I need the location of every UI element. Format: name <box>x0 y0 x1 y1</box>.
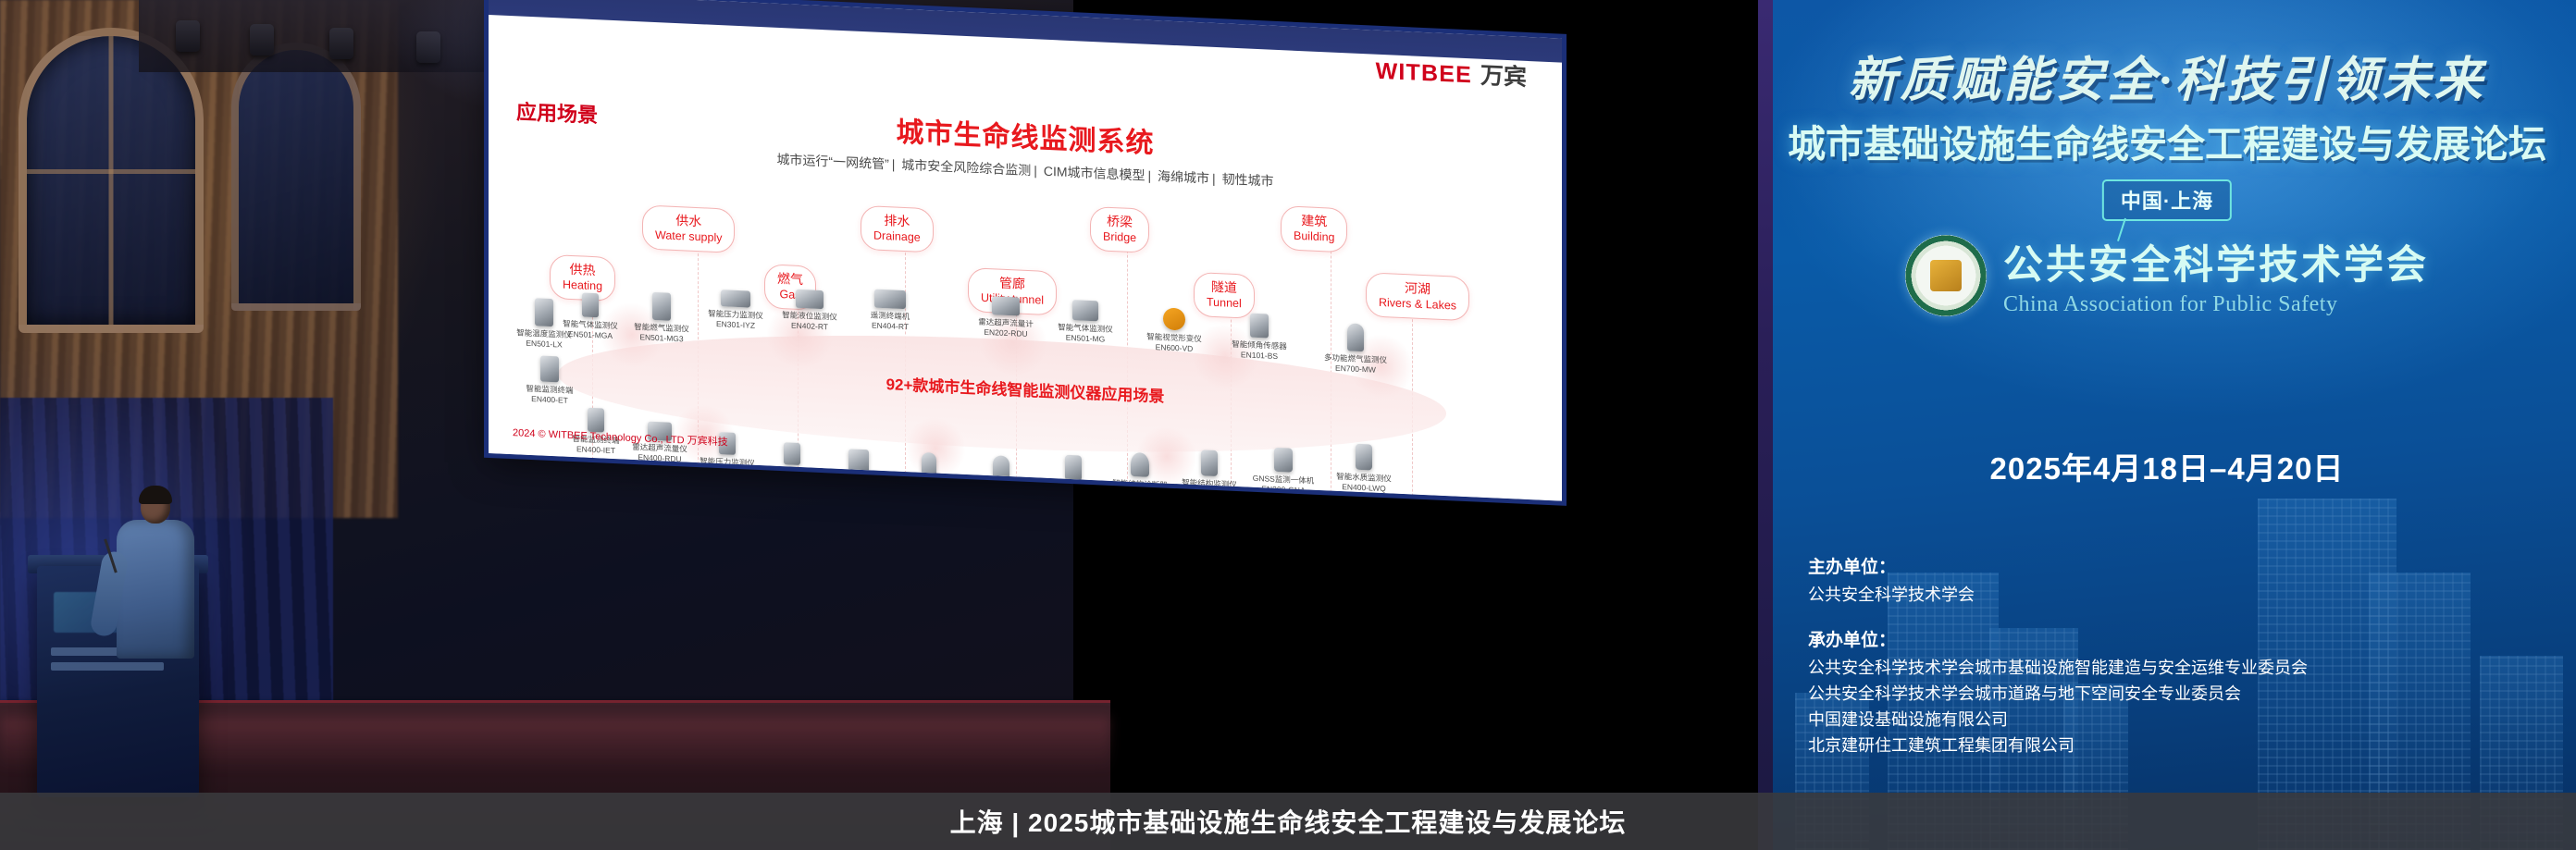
screenshot-root: WITBEE 万宾 应用场景 城市生命线监测系统 城市运行“一网统管”| 城市安… <box>0 0 2576 850</box>
scenario-label-en: Bridge <box>1103 229 1136 245</box>
device-item[interactable]: 智能压力监测仪 EN301-IYZ <box>703 289 768 331</box>
association-name-en: China Association for Public Safety <box>2003 292 2429 317</box>
organizer-item: 中国建设基础设施有限公司 <box>1808 708 2548 733</box>
speaker-body <box>117 520 194 659</box>
scenario-bubble-bridge[interactable]: 桥梁 Bridge <box>1090 206 1149 253</box>
scenario-label-cn: 建筑 <box>1294 213 1334 230</box>
subtitle-part: 城市运行“一网统管” <box>776 152 888 171</box>
association-name-cn: 公共安全科学技术学会 <box>2003 233 2429 290</box>
subtitle-part: 海绵城市 <box>1158 168 1209 185</box>
led-wall-wrapper: WITBEE 万宾 应用场景 城市生命线监测系统 城市运行“一网统管”| 城市安… <box>137 0 1562 472</box>
device-model: EN400-ET <box>516 393 583 406</box>
backdrop-organizations: 主办单位： 公共安全科学技术学会 承办单位： 公共安全科学技术学会城市基础设施智… <box>1808 553 2548 777</box>
backdrop-calligraphy-slogan: 新质赋能安全·科技引领未来 <box>1758 41 2576 110</box>
backdrop-main-title: 城市基础设施生命线安全工程建设与发展论坛 <box>1758 113 2576 168</box>
terminal-icon <box>796 289 824 309</box>
host-heading: 主办单位： <box>1808 553 2548 578</box>
device-name: 智能压力监测仪 <box>700 456 755 468</box>
terminal-icon <box>540 355 559 382</box>
organizer-item: 北京建研住工建筑工程集团有限公司 <box>1808 733 2548 758</box>
scenario-label-cn: 排水 <box>873 213 921 231</box>
multifunction-gas-icon <box>1347 323 1364 351</box>
subtitle-part: 城市安全风险综合监测 <box>901 157 1031 178</box>
device-item[interactable]: 雷达超声流量计 EN202-RDU <box>970 295 1042 340</box>
gas-monitor-icon <box>1072 300 1098 321</box>
scenario-label-en: Tunnel <box>1207 295 1242 311</box>
gnss-device-icon <box>1274 448 1293 473</box>
led-wall-screen: WITBEE 万宾 应用场景 城市生命线监测系统 城市运行“一网统管”| 城市安… <box>489 0 1562 501</box>
device-name: 智能结构监测仪 <box>1182 477 1237 489</box>
device-item[interactable]: 智能燃气监测仪 EN501-MG3 <box>627 291 696 345</box>
device-model: EN301-IYZ <box>703 318 768 331</box>
vibration-sensor-icon <box>1065 455 1082 482</box>
backdrop-location-chip: 中国·上海 <box>2102 179 2232 221</box>
device-item[interactable]: 多功能燃气监测仪 EN700-MW <box>1319 322 1392 376</box>
device-model: EN303-HS <box>1175 487 1244 500</box>
device-item[interactable]: 遥测终端机 EN404-RT <box>857 289 923 333</box>
witbee-logo-cn: 万宾 <box>1480 57 1527 92</box>
device-item[interactable]: 智能气体监测仪 EN501-MG <box>1051 299 1120 345</box>
scenario-bubble-water-supply[interactable]: 供水 Water supply <box>642 204 735 253</box>
flowmeter-icon <box>992 296 1020 315</box>
scenario-label-en: Building <box>1294 228 1334 245</box>
device-model: EN404-RT <box>857 320 923 333</box>
scenario-label-cn: 燃气 <box>777 271 803 289</box>
device-item[interactable]: 智能水质监测仪 EN400-LWQ <box>1329 442 1399 494</box>
scenario-label-cn: 桥梁 <box>1103 214 1136 231</box>
device-model: EN400-LWQ <box>1329 481 1399 494</box>
vision-sensor-icon <box>1163 307 1185 330</box>
device-item[interactable]: 智能监测终端 EN400-ET <box>516 354 583 406</box>
terminal-icon <box>848 449 869 474</box>
conference-backdrop: 新质赋能安全·科技引领未来 城市基础设施生命线安全工程建设与发展论坛 中国·上海… <box>1758 0 2576 850</box>
caption-text: 上海 | 2025城市基础设施生命线安全工程建设与发展论坛 <box>950 803 1627 840</box>
device-item[interactable]: 智能液位监测仪 EN402-RT <box>777 289 842 333</box>
device-item[interactable]: 智能结构监测仪 EN303-HS <box>1175 449 1244 500</box>
device-name: 遥测终端机 <box>871 310 910 321</box>
water-quality-icon <box>1356 444 1372 471</box>
device-item[interactable]: 智能结构诊断器 EN300-G <box>1107 451 1173 501</box>
subtitle-part: CIM城市信息模型 <box>1044 164 1146 183</box>
scenario-label-en: Water supply <box>655 228 722 246</box>
structure-monitor-icon <box>1201 450 1218 476</box>
scenario-bubble-rivers-lakes[interactable]: 河湖 Rivers & Lakes <box>1366 272 1469 321</box>
scenario-bubble-drainage[interactable]: 排水 Drainage <box>861 205 934 253</box>
backdrop-event-date: 2025年4月18日–4月20日 <box>1758 444 2576 488</box>
structure-diagnostic-icon <box>1131 452 1149 477</box>
scenario-label-en: Rivers & Lakes <box>1379 295 1456 313</box>
device-model: EN501-LX <box>511 338 577 351</box>
organizer-item: 公共安全科学技术学会城市道路与地下空间安全专业委员会 <box>1808 682 2548 707</box>
temperature-sensor-icon <box>784 442 800 465</box>
scenario-label-en: Drainage <box>873 228 921 245</box>
device-item[interactable]: 智能视觉形变仪 EN600-VD <box>1140 306 1208 354</box>
terminal-icon <box>874 289 906 310</box>
scenario-bubble-building[interactable]: 建筑 Building <box>1281 205 1347 253</box>
host-block: 主办单位： 公共安全科学技术学会 <box>1808 553 2548 608</box>
gateway-icon <box>721 289 750 307</box>
organizer-heading: 承办单位： <box>1808 626 2548 651</box>
association-text: 公共安全科学技术学会 China Association for Public … <box>2003 233 2429 317</box>
subtitle-part: 韧性城市 <box>1222 171 1274 188</box>
organizer-block: 承办单位： 公共安全科学技术学会城市基础设施智能建造与安全运维专业委员会 公共安… <box>1808 626 2548 758</box>
tilt-sensor-icon <box>1250 314 1269 339</box>
witbee-logo-text: WITBEE <box>1376 58 1472 90</box>
device-model: EN400-IET <box>563 444 629 457</box>
device-name: 多功能燃气监测仪 <box>1324 352 1387 364</box>
sensor-icon <box>652 292 671 321</box>
bottom-caption-bar: 上海 | 2025城市基础设施生命线安全工程建设与发展论坛 <box>0 793 2576 850</box>
caps-seal-icon <box>1905 235 1987 316</box>
device-model: EN300-GNA <box>1247 484 1319 498</box>
device-model: EN300-G <box>1107 488 1173 501</box>
association-row: 公共安全科学技术学会 China Association for Public … <box>1758 233 2576 317</box>
host-item: 公共安全科学技术学会 <box>1808 583 2548 608</box>
scenario-label-cn: 隧道 <box>1207 279 1242 297</box>
device-item[interactable]: GNSS监测一体机 EN300-GNA <box>1247 447 1319 498</box>
device-item[interactable]: 智能气体监测仪 EN501-MGA <box>557 291 624 341</box>
device-item[interactable]: 智能倾角传感器 EN101-BS <box>1225 312 1294 362</box>
scenario-label-cn: 供热 <box>563 262 602 279</box>
podium-text-line <box>51 662 164 671</box>
organizer-item: 公共安全科学技术学会城市基础设施智能建造与安全运维专业委员会 <box>1808 656 2548 681</box>
device-model: EN400-RDU <box>625 452 694 465</box>
presentation-slide: WITBEE 万宾 应用场景 城市生命线监测系统 城市运行“一网统管”| 城市安… <box>489 0 1562 501</box>
device-name: 智能结构诊断器 <box>1112 478 1168 490</box>
temperature-sensor-icon <box>535 298 553 326</box>
gas-monitor-icon <box>582 292 599 317</box>
